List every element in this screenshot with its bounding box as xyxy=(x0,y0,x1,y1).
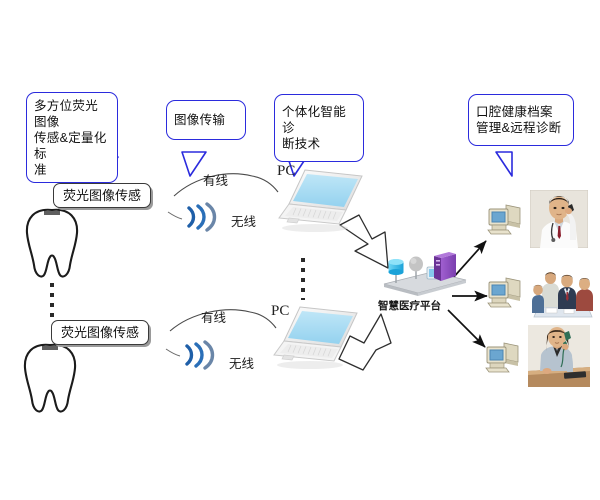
node-sphere-icon xyxy=(409,257,423,272)
system-architecture-diagram: 多方位荧光图像 传感&定量化标 准 图像传输 个体化智能诊 断技术 口腔健康档案… xyxy=(0,0,600,500)
server-tower-icon xyxy=(434,252,456,281)
sensor-stub xyxy=(166,212,182,356)
wireless-signal-icon-bottom xyxy=(182,340,216,370)
sensor-box-bottom[interactable]: 荧光图像传感 xyxy=(51,320,149,345)
callout-line: 断技术 xyxy=(282,136,356,152)
platform-label: 智慧医疗平台 xyxy=(378,298,441,313)
callout-health-record: 口腔健康档案 管理&远程诊断 xyxy=(468,94,574,146)
wired-label-top: 有线 xyxy=(203,170,228,189)
callout-line: 多方位荧光图像 xyxy=(34,98,110,130)
tooth-bottom xyxy=(20,340,80,418)
callout-line: 个体化智能诊 xyxy=(282,104,356,136)
callout-multi-angle-sensing: 多方位荧光图像 传感&定量化标 准 xyxy=(26,92,118,183)
sensor-label: 荧光图像传感 xyxy=(63,188,141,203)
desktop-computer-2[interactable] xyxy=(486,275,524,311)
tooth-top xyxy=(22,205,82,283)
callout-line: 传感&定量化标 xyxy=(34,130,110,162)
callout-line: 准 xyxy=(34,162,110,178)
callout-image-transmission: 图像传输 xyxy=(166,100,246,140)
database-icon xyxy=(389,259,404,275)
sensor-box-top[interactable]: 荧光图像传感 xyxy=(53,183,151,208)
callout-intelligent-diagnosis: 个体化智能诊 断技术 xyxy=(274,94,364,162)
photo-operator-on-phone xyxy=(528,325,590,387)
callout-line: 管理&远程诊断 xyxy=(476,120,566,136)
callout-line: 图像传输 xyxy=(174,112,238,128)
wireless-label-top: 无线 xyxy=(231,211,256,230)
callout-line: 口腔健康档案 xyxy=(476,104,566,120)
wireless-signal-icon-top xyxy=(184,202,218,232)
desktop-computer-1[interactable] xyxy=(486,202,524,238)
connector-layer xyxy=(0,0,600,500)
wireless-label-bottom: 无线 xyxy=(229,353,254,372)
pc-label-top: PC xyxy=(277,163,295,180)
photo-team-meeting xyxy=(530,265,596,324)
photo-doctor-on-phone xyxy=(530,190,588,248)
smart-medical-platform[interactable] xyxy=(374,250,470,300)
sensor-label: 荧光图像传感 xyxy=(61,325,139,340)
desktop-computer-3[interactable] xyxy=(484,340,522,376)
pc-label-bottom: PC xyxy=(271,303,289,320)
wired-label-bottom: 有线 xyxy=(201,307,226,326)
